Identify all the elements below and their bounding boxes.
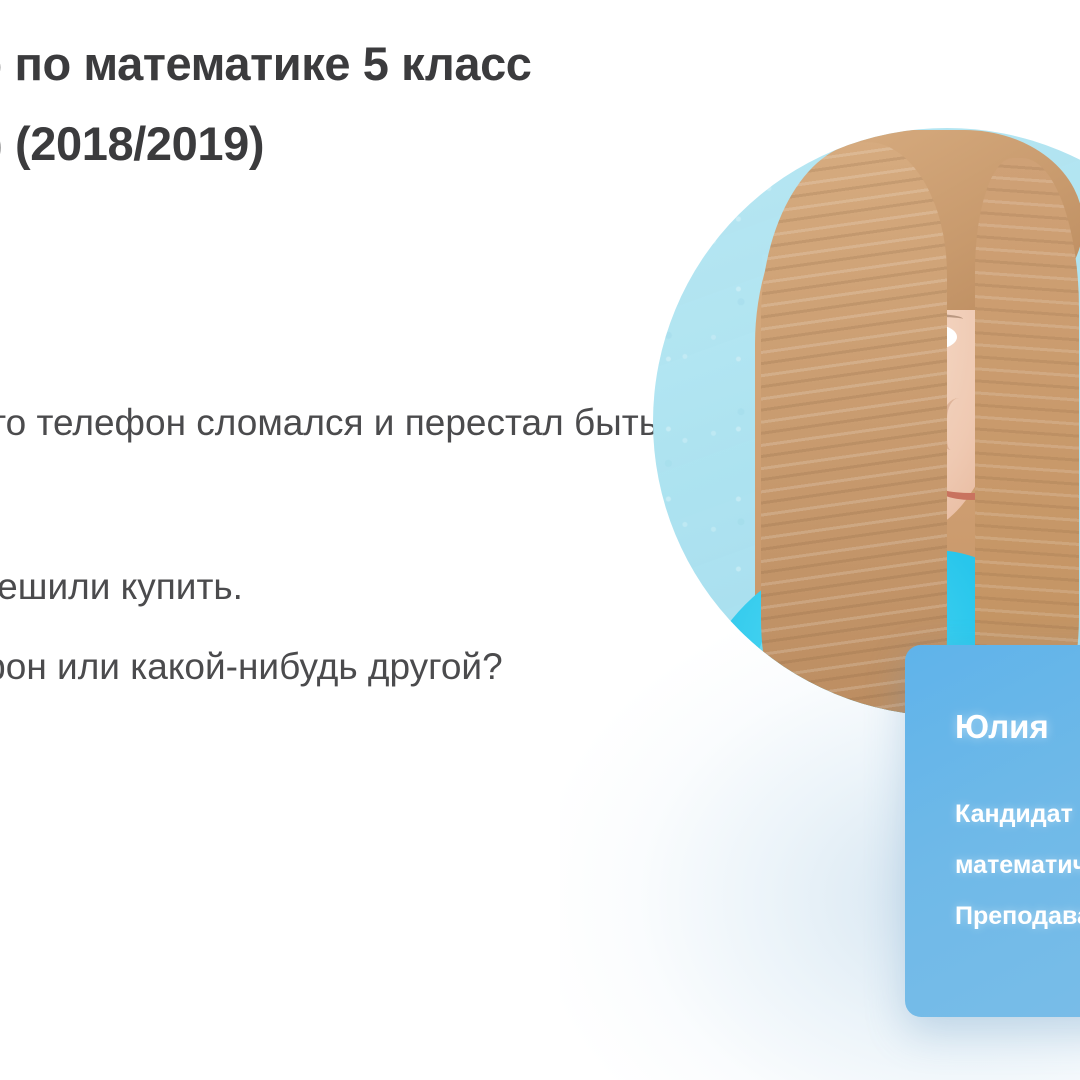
page-title: Вебинар по математике 5 класс (часть 1) … [0,24,524,184]
body-line-3: Такой же телефон или какой-нибудь другой… [0,640,632,694]
body-copy: Представьте, что телефон сломался и пере… [0,396,632,694]
hair-strands-right [975,158,1079,716]
credential-line-3: Преподаватель [955,891,1080,942]
body-line-1: Представьте, что телефон сломался и пере… [0,396,632,450]
instructor-name: Юлия [955,707,1080,747]
person-photo [653,128,1063,716]
headline-line-2: (часть 1) (2018/2019) [0,104,524,184]
instructor-info-card[interactable]: Юлия Кандидат математических наук. Препо… [905,645,1080,1017]
body-line-2: нужным, и вы решили купить. [0,560,632,614]
instructor-credentials: Кандидат математических наук. Преподават… [955,789,1080,942]
avatar [653,128,1080,716]
credential-line-1: Кандидат [955,789,1080,840]
slide-stage: Вебинар по математике 5 класс (часть 1) … [0,0,1080,1080]
credential-line-2: математических наук. [955,840,1080,891]
hair-front [761,142,947,716]
headline-line-1: Вебинар по математике 5 класс [0,24,524,104]
